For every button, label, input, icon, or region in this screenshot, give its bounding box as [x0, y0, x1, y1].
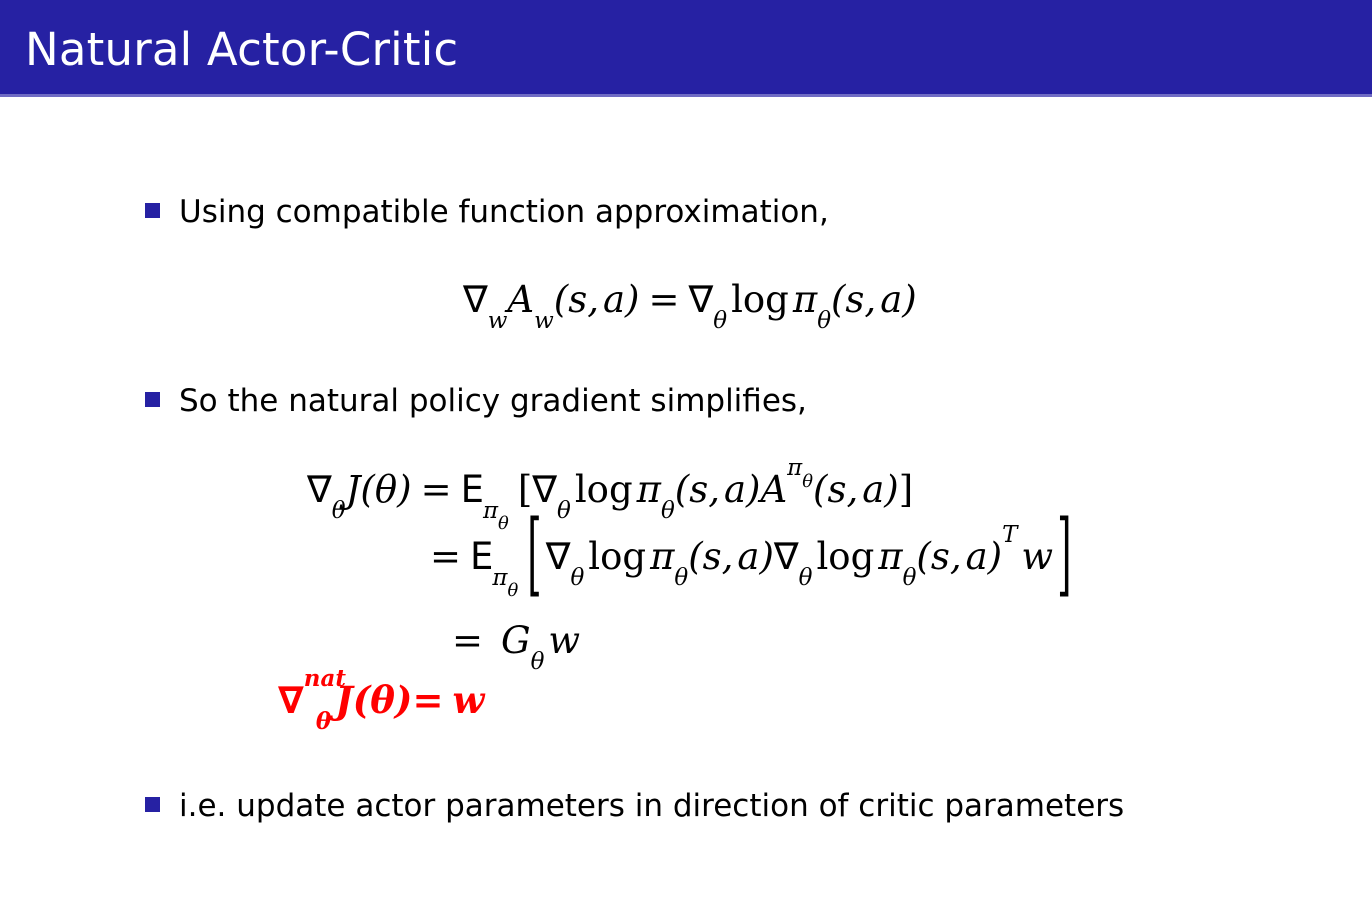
- equation-policy-gradient-line-3: =Gθw: [452, 618, 580, 664]
- list-item-label: So the natural policy gradient simplifie…: [179, 382, 807, 420]
- page-title: Natural Actor-Critic: [25, 20, 458, 80]
- square-bullet-icon: [145, 392, 160, 407]
- slide-root: { "slide": { "title": "Natural Actor-Cri…: [0, 0, 1372, 920]
- nabla-glyph: ∇: [307, 468, 332, 511]
- expectation-glyph: E: [470, 535, 492, 578]
- equals-glyph: =: [452, 619, 483, 662]
- nabla-glyph: ∇: [774, 535, 799, 578]
- nabla-glyph: ∇: [463, 278, 488, 321]
- equation-natural-gradient-highlight: ∇natθJ(θ)=w: [278, 677, 484, 724]
- equals-glyph: =: [648, 278, 679, 321]
- equals-glyph: =: [430, 535, 461, 578]
- slide-content: Using compatible function approximation,…: [0, 97, 1372, 920]
- equation-policy-gradient-line-1: ∇θJ(θ)=Eπθ[∇θlogπθ(s,a)Aπθ(s,a)]: [307, 467, 913, 513]
- bracket-open-glyph: [: [527, 499, 541, 612]
- square-bullet-icon: [145, 203, 160, 218]
- equation-policy-gradient-line-2: =Eπθ[∇θlogπθ(s,a)∇θlogπθ(s,a)Tw]: [430, 534, 1072, 580]
- nat-superscript: nat: [304, 665, 346, 692]
- theta-subscript: θ: [316, 708, 331, 735]
- expectation-glyph: E: [461, 468, 483, 511]
- list-item-label: i.e. update actor parameters in directio…: [179, 787, 1124, 825]
- square-bullet-icon: [145, 797, 160, 812]
- slide-header-bar: Natural Actor-Critic: [0, 0, 1372, 97]
- list-item: So the natural policy gradient simplifie…: [145, 382, 807, 420]
- nabla-glyph: ∇: [546, 535, 571, 578]
- equals-glyph: =: [412, 678, 443, 722]
- equals-glyph: =: [421, 468, 452, 511]
- list-item: i.e. update actor parameters in directio…: [145, 787, 1124, 825]
- list-item: Using compatible function approximation,: [145, 193, 829, 231]
- bracket-close-glyph: ]: [1057, 499, 1071, 612]
- nabla-glyph: ∇: [688, 278, 713, 321]
- equation-compatible-function-approximation: ∇wAw(s,a)=∇θlogπθ(s,a): [463, 277, 917, 323]
- list-item-label: Using compatible function approximation,: [179, 193, 829, 231]
- nabla-glyph: ∇: [278, 679, 304, 722]
